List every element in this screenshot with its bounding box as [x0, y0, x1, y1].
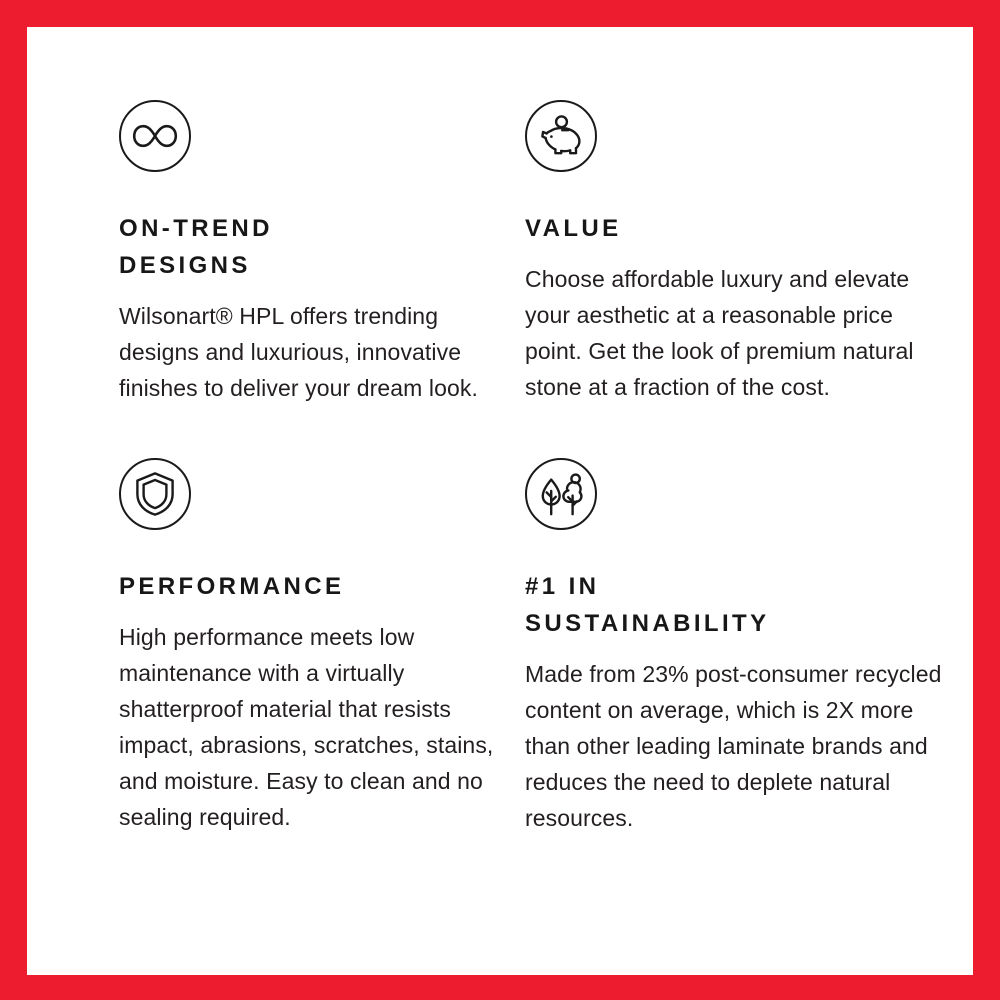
trees-icon [525, 458, 597, 530]
feature-value: VALUE Choose affordable luxury and eleva… [525, 100, 945, 406]
feature-performance: PERFORMANCE High performance meets low m… [119, 406, 525, 836]
feature-grid: ON-TREND DESIGNS Wilsonart® HPL offers t… [27, 27, 973, 836]
feature-title: #1 IN SUSTAINABILITY [525, 568, 945, 642]
feature-title: PERFORMANCE [119, 568, 503, 605]
feature-title: VALUE [525, 210, 945, 247]
feature-sustainability: #1 IN SUSTAINABILITY Made from 23% post-… [525, 406, 945, 836]
feature-title: ON-TREND DESIGNS [119, 210, 503, 284]
infinity-icon [119, 100, 191, 172]
feature-on-trend-designs: ON-TREND DESIGNS Wilsonart® HPL offers t… [119, 100, 525, 406]
feature-body: Choose affordable luxury and elevate you… [525, 261, 945, 405]
white-card: ON-TREND DESIGNS Wilsonart® HPL offers t… [27, 27, 973, 975]
shield-icon [119, 458, 191, 530]
feature-body: Made from 23% post-consumer recycled con… [525, 656, 945, 836]
feature-body: Wilsonart® HPL offers trending designs a… [119, 298, 503, 406]
feature-body: High performance meets low maintenance w… [119, 619, 503, 835]
piggy-bank-icon [525, 100, 597, 172]
page-root: ON-TREND DESIGNS Wilsonart® HPL offers t… [0, 0, 1000, 1000]
